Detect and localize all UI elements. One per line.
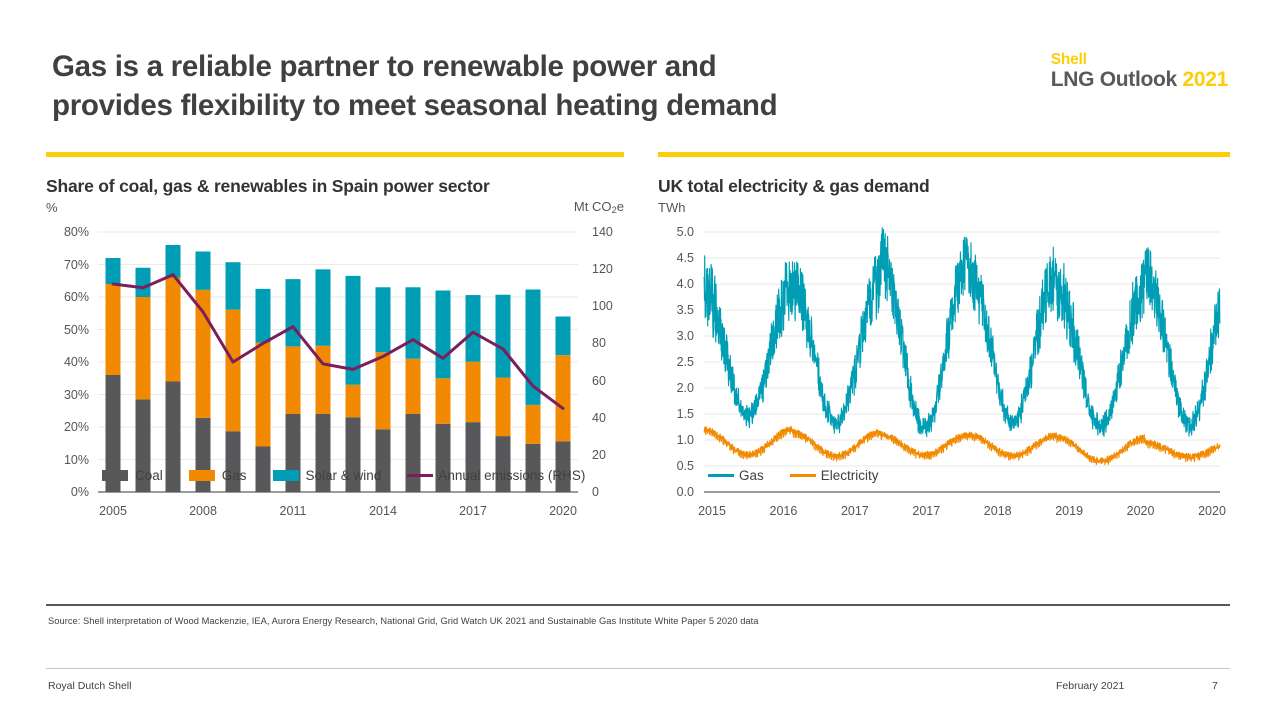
bar-segment-solar-wind[interactable] <box>136 268 151 297</box>
bar-segment-gas[interactable] <box>226 310 241 432</box>
x-axis-tick: 2020 <box>1127 504 1155 518</box>
left-chart-legend: CoalGasSolar & windAnnual emissions (RHS… <box>102 468 611 483</box>
right-legend-item[interactable]: Gas <box>708 468 764 483</box>
y-axis-tick-left: 40% <box>46 355 89 369</box>
right-chart-legend: GasElectricity <box>708 468 905 483</box>
bar-segment-gas[interactable] <box>496 378 511 437</box>
left-chart-title: Share of coal, gas & renewables in Spain… <box>46 176 624 197</box>
legend-swatch-line-icon <box>790 474 816 477</box>
bar-segment-gas[interactable] <box>166 278 181 382</box>
brand-year: 2021 <box>1182 68 1228 91</box>
left-legend-item[interactable]: Coal <box>102 468 163 483</box>
legend-label: Annual emissions (RHS) <box>438 468 585 483</box>
source-note: Source: Shell interpretation of Wood Mac… <box>48 616 1048 626</box>
x-axis-tick: 2011 <box>280 504 307 518</box>
brand-lockup: Shell LNG Outlook 2021 <box>1051 52 1228 92</box>
legend-label: Gas <box>739 468 764 483</box>
legend-label: Gas <box>222 468 247 483</box>
legend-label: Solar & wind <box>306 468 382 483</box>
bar-segment-gas[interactable] <box>466 362 481 422</box>
x-axis-tick: 2018 <box>984 504 1012 518</box>
bar-segment-gas[interactable] <box>436 378 451 424</box>
legend-swatch-box-icon <box>189 470 215 481</box>
y-axis-tick-left: 50% <box>46 323 89 337</box>
panel-uk-demand: UK total electricity & gas demand TWh 0.… <box>658 152 1230 524</box>
bar-segment-gas[interactable] <box>406 359 421 414</box>
bar-segment-solar-wind[interactable] <box>166 245 181 278</box>
brand-outlook-text: LNG Outlook <box>1051 68 1177 91</box>
title-line-1: Gas is a reliable partner to renewable p… <box>52 50 716 83</box>
electricity-demand-line[interactable] <box>704 427 1220 465</box>
bar-segment-solar-wind[interactable] <box>196 252 211 290</box>
y-axis-tick: 2.5 <box>658 355 694 369</box>
unit-right-prefix: Mt CO <box>574 199 612 214</box>
footer-divider <box>46 668 1230 669</box>
title-line-2: provides flexibility to meet seasonal he… <box>52 87 952 126</box>
bar-segment-coal[interactable] <box>556 488 571 492</box>
y-axis-tick-left: 10% <box>46 453 89 467</box>
y-axis-tick-right: 120 <box>592 262 613 276</box>
bar-segment-solar-wind[interactable] <box>316 269 331 345</box>
x-axis-tick: 2020 <box>549 504 577 518</box>
right-chart-units: TWh <box>658 199 1230 218</box>
brand-shell-wordmark: Shell <box>1051 52 1228 68</box>
page-title: Gas is a reliable partner to renewable p… <box>52 48 952 126</box>
y-axis-tick-right: 20 <box>592 448 606 462</box>
x-axis-tick: 2015 <box>698 504 726 518</box>
bar-segment-solar-wind[interactable] <box>106 258 121 284</box>
x-axis-tick: 2017 <box>459 504 487 518</box>
unit-right-suffix: e <box>617 199 624 214</box>
panel-spain-power-sector: Share of coal, gas & renewables in Spain… <box>46 152 624 524</box>
bar-segment-solar-wind[interactable] <box>496 295 511 378</box>
y-axis-tick-left: 30% <box>46 388 89 402</box>
left-chart-units: % Mt CO2e <box>46 199 624 218</box>
x-axis-tick: 2020 <box>1198 504 1226 518</box>
right-chart-unit-left: TWh <box>658 200 685 215</box>
slide: Gas is a reliable partner to renewable p… <box>0 0 1280 720</box>
legend-swatch-line-icon <box>708 474 734 477</box>
left-legend-item[interactable]: Solar & wind <box>273 468 382 483</box>
panel-accent-rule-right <box>658 152 1230 157</box>
bar-segment-solar-wind[interactable] <box>286 279 301 346</box>
brand-outlook-wordmark: LNG Outlook 2021 <box>1051 68 1228 92</box>
bar-segment-gas[interactable] <box>136 297 151 399</box>
bar-segment-solar-wind[interactable] <box>406 287 421 359</box>
left-legend-item[interactable]: Annual emissions (RHS) <box>407 468 585 483</box>
bar-segment-coal[interactable] <box>556 441 571 492</box>
source-divider <box>46 604 1230 606</box>
y-axis-tick-left: 70% <box>46 258 89 272</box>
y-axis-tick-right: 40 <box>592 411 606 425</box>
legend-swatch-line-icon <box>407 474 433 477</box>
bar-segment-solar-wind[interactable] <box>256 289 271 343</box>
y-axis-tick: 5.0 <box>658 225 694 239</box>
y-axis-tick-left: 20% <box>46 420 89 434</box>
y-axis-tick: 2.0 <box>658 381 694 395</box>
right-chart-title: UK total electricity & gas demand <box>658 176 1230 197</box>
bar-segment-solar-wind[interactable] <box>556 317 571 356</box>
x-axis-tick: 2005 <box>99 504 127 518</box>
footer-date: February 2021 <box>1056 680 1124 692</box>
bar-segment-solar-wind[interactable] <box>466 295 481 362</box>
legend-label: Electricity <box>821 468 879 483</box>
bar-segment-solar-wind[interactable] <box>226 262 241 309</box>
y-axis-tick-left: 80% <box>46 225 89 239</box>
y-axis-tick: 3.5 <box>658 303 694 317</box>
legend-swatch-box-icon <box>273 470 299 481</box>
left-chart-unit-left: % <box>46 200 58 215</box>
bar-segment-gas[interactable] <box>286 346 301 414</box>
panel-accent-rule-left <box>46 152 624 157</box>
x-axis-tick: 2019 <box>1055 504 1083 518</box>
bar-segment-gas[interactable] <box>256 343 271 447</box>
x-axis-tick: 2016 <box>770 504 798 518</box>
bar-segment-solar-wind[interactable] <box>376 287 391 352</box>
footer-company: Royal Dutch Shell <box>48 680 131 692</box>
bar-segment-solar-wind[interactable] <box>436 291 451 379</box>
bar-segment-gas[interactable] <box>526 405 541 444</box>
y-axis-tick-right: 60 <box>592 374 606 388</box>
left-legend-item[interactable]: Gas <box>189 468 247 483</box>
y-axis-tick: 3.0 <box>658 329 694 343</box>
x-axis-tick: 2008 <box>189 504 217 518</box>
bar-segment-gas[interactable] <box>556 355 571 441</box>
gas-demand-line[interactable] <box>704 228 1220 437</box>
y-axis-tick-left: 60% <box>46 290 89 304</box>
x-axis-tick: 2014 <box>369 504 397 518</box>
bar-segment-gas[interactable] <box>196 290 211 418</box>
y-axis-tick: 1.5 <box>658 407 694 421</box>
y-axis-tick: 4.0 <box>658 277 694 291</box>
y-axis-tick-left: 0% <box>46 485 89 499</box>
unit-right-subscript: 2 <box>611 205 616 216</box>
bar-segment-gas[interactable] <box>346 385 361 418</box>
legend-swatch-box-icon <box>102 470 128 481</box>
y-axis-tick: 0.5 <box>658 459 694 473</box>
y-axis-tick-right: 80 <box>592 336 606 350</box>
footer-page-number: 7 <box>1212 680 1218 692</box>
x-axis-tick: 2017 <box>841 504 869 518</box>
bar-segment-gas[interactable] <box>376 352 391 429</box>
legend-label: Coal <box>135 468 163 483</box>
bar-segment-gas[interactable] <box>106 284 121 375</box>
bar-segment-coal[interactable] <box>496 436 511 492</box>
right-legend-item[interactable]: Electricity <box>790 468 879 483</box>
y-axis-tick-right: 140 <box>592 225 613 239</box>
y-axis-tick-right: 0 <box>592 485 599 499</box>
y-axis-tick-right: 100 <box>592 299 613 313</box>
x-axis-tick: 2017 <box>912 504 940 518</box>
y-axis-tick: 1.0 <box>658 433 694 447</box>
left-chart-unit-right: Mt CO2e <box>574 199 624 214</box>
y-axis-tick: 4.5 <box>658 251 694 265</box>
y-axis-tick: 0.0 <box>658 485 694 499</box>
